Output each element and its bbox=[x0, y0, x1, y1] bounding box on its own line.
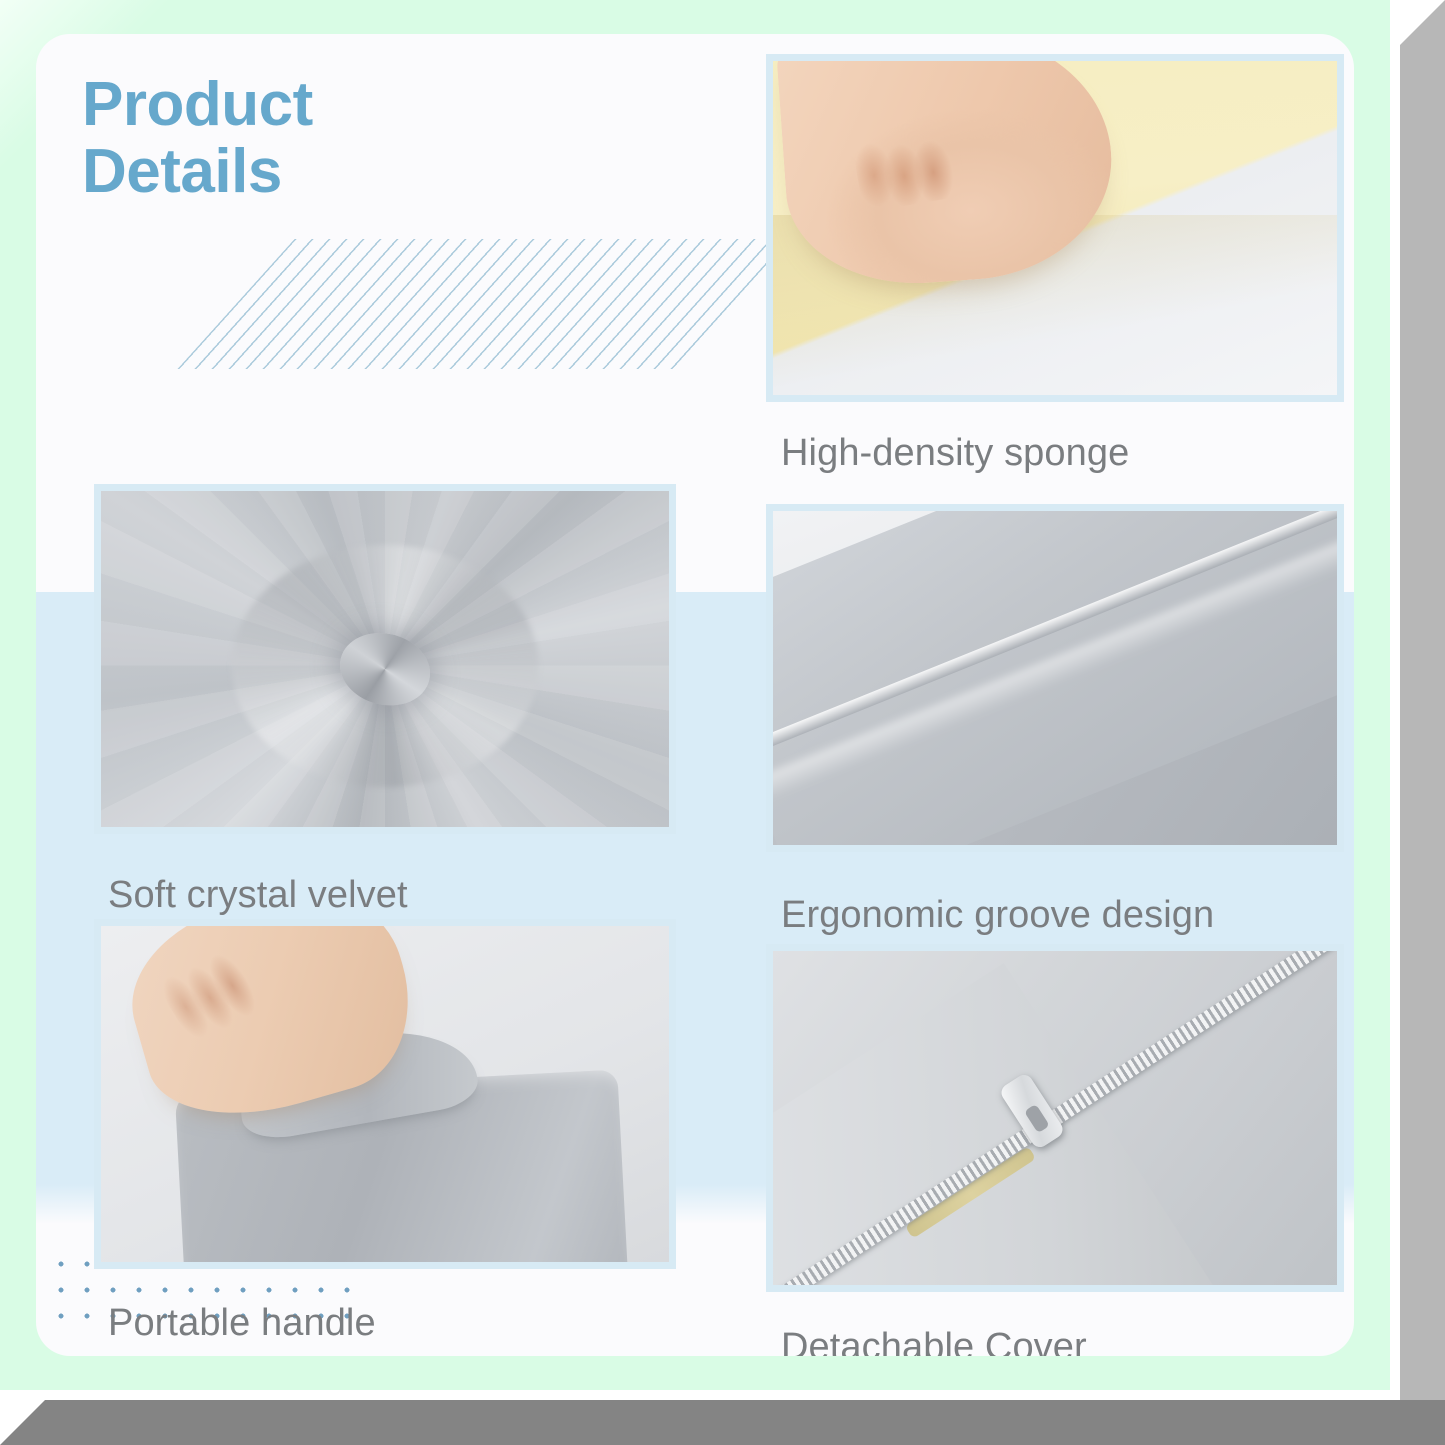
sponge-hand-knuckles bbox=[851, 122, 967, 213]
product-details-card: Product Details High-density sponge Soft… bbox=[36, 34, 1354, 1356]
zipper-photo bbox=[773, 951, 1337, 1285]
feature-caption-handle: Portable handle bbox=[108, 1302, 376, 1345]
velvet-photo bbox=[101, 491, 669, 827]
feature-photo-zipper bbox=[766, 944, 1344, 1292]
handle-photo bbox=[101, 926, 669, 1262]
sponge-photo bbox=[773, 61, 1337, 395]
vertical-scrollbar[interactable] bbox=[1400, 0, 1445, 1400]
feature-caption-sponge: High-density sponge bbox=[781, 432, 1129, 475]
feature-photo-groove bbox=[766, 504, 1344, 852]
groove-photo bbox=[773, 511, 1337, 845]
zipper-pull-hole bbox=[1024, 1104, 1050, 1133]
feature-photo-velvet bbox=[94, 484, 676, 834]
handle-hand-fingers bbox=[152, 927, 279, 1050]
feature-caption-zipper: Detachable Cover bbox=[781, 1326, 1087, 1356]
horizontal-scrollbar[interactable] bbox=[0, 1400, 1445, 1445]
diagonal-line-pattern-decoration bbox=[177, 239, 794, 369]
screenshot-viewport: Product Details High-density sponge Soft… bbox=[0, 0, 1445, 1445]
page-title: Product Details bbox=[82, 72, 642, 206]
feature-photo-handle bbox=[94, 919, 676, 1269]
feature-caption-groove: Ergonomic groove design bbox=[781, 894, 1214, 937]
feature-photo-sponge bbox=[766, 54, 1344, 402]
feature-caption-velvet: Soft crystal velvet bbox=[108, 874, 408, 917]
